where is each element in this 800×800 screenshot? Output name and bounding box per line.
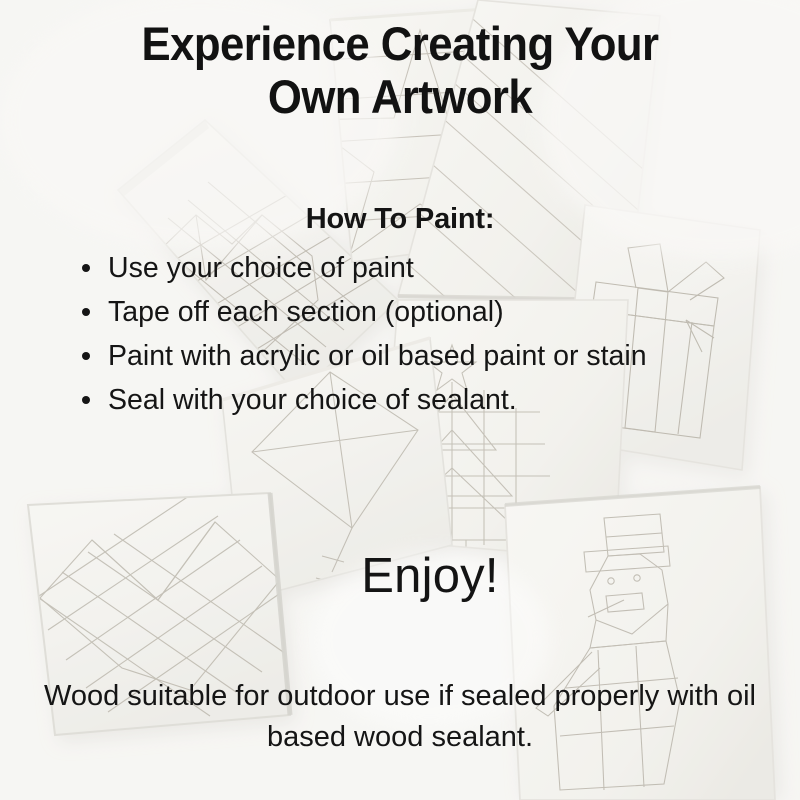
list-item: Tape off each section (optional) [72,292,772,334]
page-title-line-2: Own Artwork [65,71,735,124]
bullet-icon [82,264,90,272]
bullet-icon [82,308,90,316]
text-overlay: Experience Creating Your Own Artwork How… [0,0,800,800]
instructions-heading: How To Paint: [40,203,760,236]
page-title: Experience Creating Your Own Artwork [65,18,735,123]
enjoy-text: Enjoy! [300,548,560,604]
list-item: Use your choice of paint [72,248,772,290]
bullet-icon [82,396,90,404]
instructions-list: Use your choice of paint Tape off each s… [72,248,772,424]
footnote-text: Wood suitable for outdoor use if sealed … [30,676,770,758]
list-item-label: Use your choice of paint [108,252,414,284]
list-item-label: Seal with your choice of sealant. [108,384,517,416]
page-title-line-1: Experience Creating Your [65,18,735,71]
list-item-label: Paint with acrylic or oil based paint or… [108,340,647,372]
bullet-icon [82,352,90,360]
list-item: Paint with acrylic or oil based paint or… [72,336,772,378]
marketing-graphic: Experience Creating Your Own Artwork How… [0,0,800,800]
list-item: Seal with your choice of sealant. [72,380,772,422]
list-item-label: Tape off each section (optional) [108,296,504,328]
